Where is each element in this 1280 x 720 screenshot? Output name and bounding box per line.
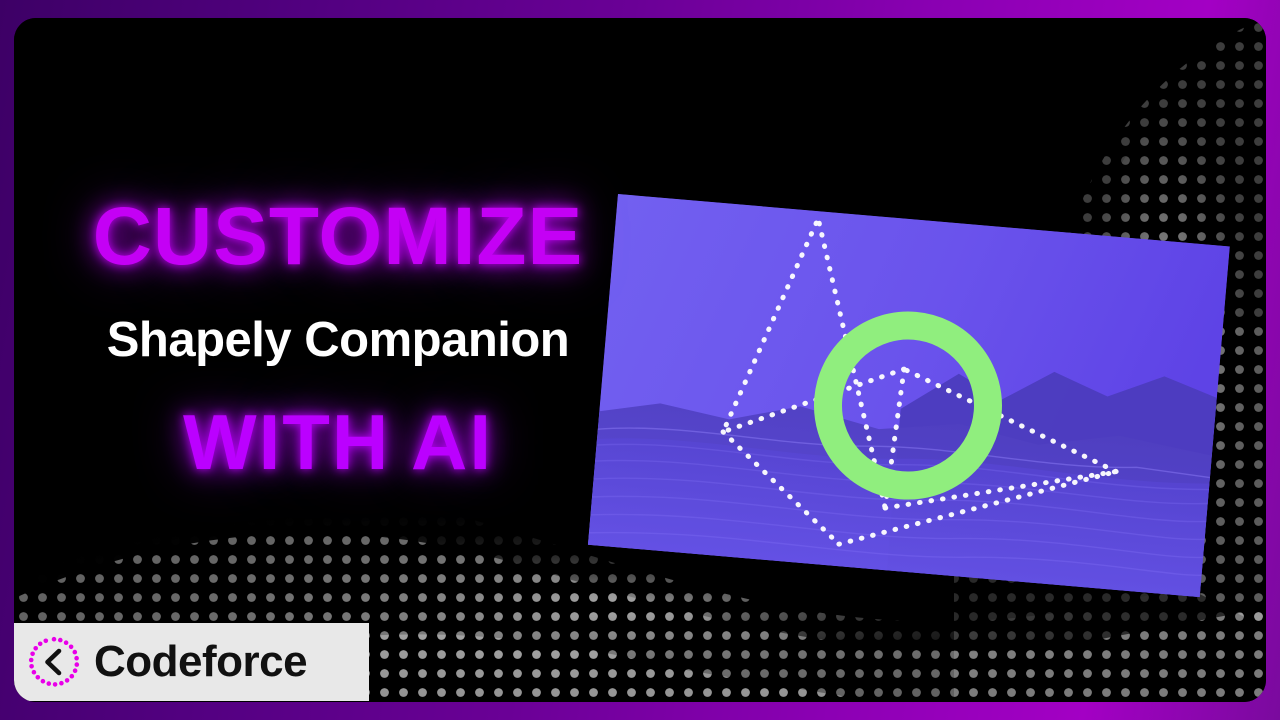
headline-line-1: CUSTOMIZE bbox=[58, 196, 618, 278]
brand-logo-bar[interactable]: Codeforce bbox=[14, 623, 369, 701]
card-surface bbox=[588, 194, 1230, 597]
chevron-left-dotted-circle-icon bbox=[28, 636, 80, 688]
purple-gradient-frame: CUSTOMIZE Shapely Companion WITH AI bbox=[0, 0, 1280, 720]
brand-name-label: Codeforce bbox=[94, 640, 307, 684]
headline-line-3: WITH AI bbox=[58, 403, 618, 481]
headline-line-2: Shapely Companion bbox=[58, 316, 618, 365]
thumbnail-inner-area: CUSTOMIZE Shapely Companion WITH AI bbox=[14, 18, 1266, 702]
product-screenshot-card[interactable] bbox=[588, 194, 1230, 597]
headline-block: CUSTOMIZE Shapely Companion WITH AI bbox=[58, 196, 618, 481]
thumbnail-canvas: CUSTOMIZE Shapely Companion WITH AI bbox=[0, 0, 1280, 720]
